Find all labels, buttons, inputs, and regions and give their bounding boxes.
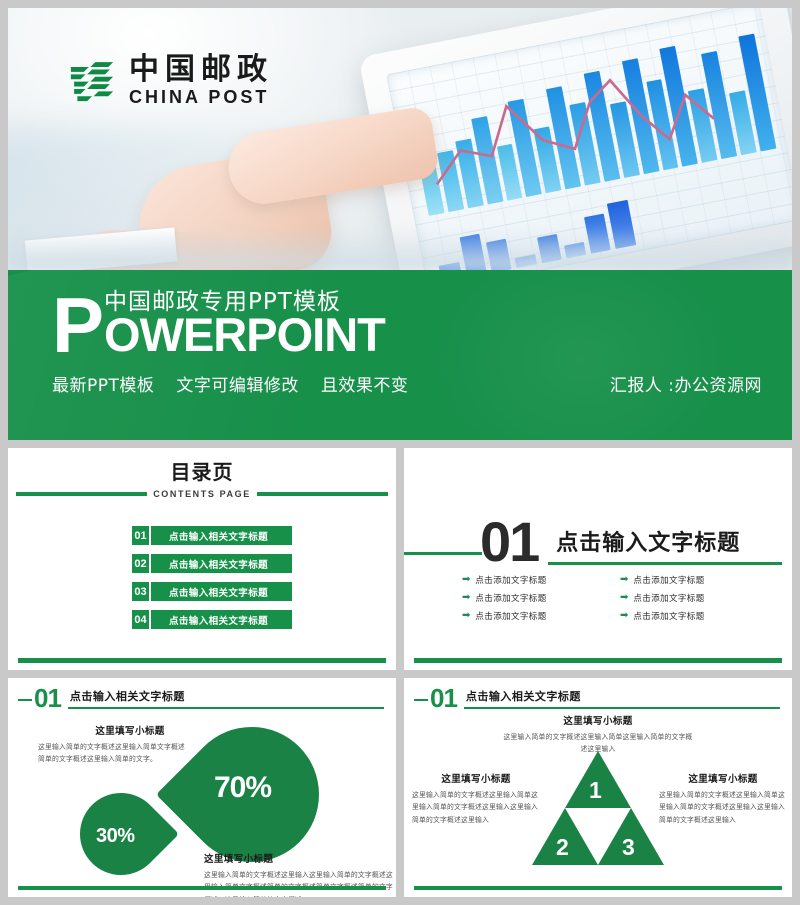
cover-subtitle: 最新PPT模板文字可编辑修改且效果不变 bbox=[52, 371, 430, 396]
header-dash bbox=[414, 699, 428, 701]
section-dash bbox=[404, 552, 482, 555]
teardrop-chart: 70% 30% 这里填写小标题 这里输入简单的文字概述这里输入简单文字概述简单的… bbox=[8, 709, 396, 885]
slide-percentage-chart[interactable]: 01 点击输入相关文字标题 70% 30% 这里填写小标题 这里输入简单的文字概… bbox=[8, 678, 396, 897]
section-bullet-list: ➡ 点击添加文字标题 ➡ 点击添加文字标题 ➡ 点击添加文字标题 ➡ 点击添加文… bbox=[462, 574, 760, 622]
cover-subtitle-part-3: 且效果不变 bbox=[321, 376, 409, 396]
slide-section-divider[interactable]: 01 点击输入文字标题 ➡ 点击添加文字标题 ➡ 点击添加文字标题 bbox=[404, 448, 792, 670]
list-item[interactable]: 02 点击输入相关文字标题 bbox=[132, 554, 396, 573]
list-item[interactable]: 04 点击输入相关文字标题 bbox=[132, 610, 396, 629]
block-heading: 这里填写小标题 bbox=[503, 713, 693, 727]
list-item[interactable]: ➡ 点击添加文字标题 bbox=[620, 610, 760, 622]
toc-label: 点击输入相关文字标题 bbox=[151, 610, 292, 629]
bullet-label: 点击添加文字标题 bbox=[633, 592, 704, 604]
bullet-label: 点击添加文字标题 bbox=[475, 592, 546, 604]
text-block-left: 这里填写小标题 这里输入简单的文字概述这里输入简单这里输入简单的文字概述这里输入… bbox=[412, 771, 540, 827]
slide-header: 01 点击输入相关文字标题 bbox=[404, 678, 792, 709]
block-body: 这里输入简单的文字概述这里输入这里输入简单的文字概述这里输入简单文字概述简单的文… bbox=[204, 869, 394, 898]
slide-footer-bar bbox=[414, 886, 782, 890]
cover-title-block: P 中国邮政专用PPT模板 OWERPOINT bbox=[8, 270, 792, 359]
text-block-bottom-right: 这里填写小标题 这里输入简单的文字概述这里输入这里输入简单的文字概述这里输入简单… bbox=[204, 851, 394, 898]
header-number: 01 bbox=[430, 688, 457, 708]
desk-edge-shadow bbox=[8, 228, 792, 270]
contents-subtitle-row: CONTENTS PAGE bbox=[16, 488, 388, 500]
section-title-wrap: 点击输入文字标题 bbox=[548, 525, 782, 565]
arrow-right-icon: ➡ bbox=[462, 611, 470, 621]
arrow-right-icon: ➡ bbox=[462, 593, 470, 603]
section-number: 01 bbox=[480, 520, 538, 565]
slide-cover[interactable]: 中国邮政 CHINA POST P 中国邮政专用PPT模板 OWERPOINT … bbox=[8, 8, 792, 440]
list-item[interactable]: ➡ 点击添加文字标题 bbox=[462, 592, 602, 604]
text-block-top: 这里填写小标题 这里输入简单的文字概述这里输入简单这里输入简单的文字概述这里输入 bbox=[503, 713, 693, 756]
triangle-number-1: 1 bbox=[589, 779, 602, 802]
list-item[interactable]: ➡ 点击添加文字标题 bbox=[620, 574, 760, 586]
list-item[interactable]: ➡ 点击添加文字标题 bbox=[462, 610, 602, 622]
cover-author: 汇报人 :办公资源网 bbox=[610, 371, 762, 396]
list-item[interactable]: 03 点击输入相关文字标题 bbox=[132, 582, 396, 601]
page-title: 点击输入相关文字标题 bbox=[464, 688, 780, 704]
contents-title: 目录页 bbox=[8, 456, 396, 485]
cover-subtitle-part-1: 最新PPT模板 bbox=[52, 376, 154, 396]
cover-title-stack: 中国邮政专用PPT模板 OWERPOINT bbox=[104, 290, 385, 357]
cover-subtitle-part-2: 文字可编辑修改 bbox=[176, 376, 299, 396]
logo-wordmark: 中国邮政 CHINA POST bbox=[129, 55, 273, 106]
contents-header: 目录页 CONTENTS PAGE bbox=[8, 448, 396, 504]
slide-header: 01 点击输入相关文字标题 bbox=[8, 678, 396, 709]
block-body: 这里输入简单的文字概述这里输入简单这里输入简单的文字概述这里输入这里输入简单的文… bbox=[659, 789, 787, 827]
text-block-right: 这里填写小标题 这里输入简单的文字概述这里输入简单这里输入简单的文字概述这里输入… bbox=[659, 771, 787, 827]
slide-triangle-diagram[interactable]: 01 点击输入相关文字标题 这里填写小标题 这里输入简单的文字概述这里输入简单这… bbox=[404, 678, 792, 897]
value-label-large: 70% bbox=[214, 771, 271, 805]
header-number: 01 bbox=[34, 688, 61, 708]
section-underline bbox=[548, 562, 782, 565]
section-title: 点击输入文字标题 bbox=[548, 525, 782, 557]
header-title-wrap: 点击输入相关文字标题 bbox=[464, 688, 780, 709]
toc-number: 02 bbox=[132, 554, 149, 573]
arrow-right-icon: ➡ bbox=[620, 611, 628, 621]
toc-number: 03 bbox=[132, 582, 149, 601]
cover-big-letter: P bbox=[52, 292, 102, 359]
slide-preview-sheet: 中国邮政 CHINA POST P 中国邮政专用PPT模板 OWERPOINT … bbox=[0, 0, 800, 905]
block-heading: 这里填写小标题 bbox=[38, 723, 188, 737]
bullet-label: 点击添加文字标题 bbox=[475, 610, 546, 622]
section-wrapper: 01 点击输入文字标题 ➡ 点击添加文字标题 ➡ 点击添加文字标题 bbox=[404, 448, 792, 670]
arrow-right-icon: ➡ bbox=[462, 575, 470, 585]
header-dash bbox=[18, 699, 32, 701]
contents-list: 01 点击输入相关文字标题 02 点击输入相关文字标题 03 点击输入相关文字标… bbox=[8, 526, 396, 629]
slide-contents[interactable]: 目录页 CONTENTS PAGE 01 点击输入相关文字标题 02 点击输入相… bbox=[8, 448, 396, 670]
slide-footer-bar bbox=[414, 658, 782, 663]
arrow-right-icon: ➡ bbox=[620, 593, 628, 603]
value-label-small: 30% bbox=[96, 825, 135, 848]
cover-title-row: P 中国邮政专用PPT模板 OWERPOINT bbox=[52, 288, 762, 359]
china-post-logo: 中国邮政 CHINA POST bbox=[66, 54, 273, 106]
page-title: 点击输入相关文字标题 bbox=[68, 688, 384, 704]
china-post-logo-icon bbox=[66, 54, 118, 106]
block-heading: 这里填写小标题 bbox=[412, 771, 540, 785]
contents-subtitle: CONTENTS PAGE bbox=[153, 489, 251, 499]
bullet-label: 点击添加文字标题 bbox=[475, 574, 546, 586]
slide-footer-bar bbox=[18, 658, 386, 663]
cover-photo: 中国邮政 CHINA POST bbox=[8, 8, 792, 270]
bullet-label: 点击添加文字标题 bbox=[633, 610, 704, 622]
block-body: 这里输入简单的文字概述这里输入简单文字概述简单的文字概述这里输入简单的文字。 bbox=[38, 741, 188, 766]
triangle-number-2: 2 bbox=[556, 836, 569, 859]
cover-green-band: P 中国邮政专用PPT模板 OWERPOINT 最新PPT模板文字可编辑修改且效… bbox=[8, 270, 792, 440]
logo-chinese-name: 中国邮政 bbox=[129, 55, 273, 85]
toc-label: 点击输入相关文字标题 bbox=[151, 554, 292, 573]
toc-number: 04 bbox=[132, 610, 149, 629]
block-body: 这里输入简单的文字概述这里输入简单这里输入简单的文字概述这里输入这里输入简单的文… bbox=[412, 789, 540, 827]
bullet-label: 点击添加文字标题 bbox=[633, 574, 704, 586]
cover-footer-row: 最新PPT模板文字可编辑修改且效果不变 汇报人 :办公资源网 bbox=[8, 371, 792, 396]
block-heading: 这里填写小标题 bbox=[204, 851, 394, 865]
index-finger bbox=[224, 105, 441, 209]
slide-footer-bar bbox=[18, 886, 386, 890]
triangle-diagram: 这里填写小标题 这里输入简单的文字概述这里输入简单这里输入简单的文字概述这里输入… bbox=[404, 709, 792, 885]
toc-number: 01 bbox=[132, 526, 149, 545]
toc-label: 点击输入相关文字标题 bbox=[151, 582, 292, 601]
triangle-number-3: 3 bbox=[622, 836, 635, 859]
triangle-shapes: 1 2 3 bbox=[532, 751, 664, 865]
cover-title-english: OWERPOINT bbox=[104, 313, 385, 356]
section-main: 01 点击输入文字标题 ➡ 点击添加文字标题 ➡ 点击添加文字标题 bbox=[404, 520, 792, 622]
header-title-wrap: 点击输入相关文字标题 bbox=[68, 688, 384, 709]
logo-english-name: CHINA POST bbox=[129, 88, 273, 106]
toc-label: 点击输入相关文字标题 bbox=[151, 526, 292, 545]
list-item[interactable]: ➡ 点击添加文字标题 bbox=[462, 574, 602, 586]
list-item[interactable]: ➡ 点击添加文字标题 bbox=[620, 592, 760, 604]
list-item[interactable]: 01 点击输入相关文字标题 bbox=[132, 526, 396, 545]
text-block-top-left: 这里填写小标题 这里输入简单的文字概述这里输入简单文字概述简单的文字概述这里输入… bbox=[38, 723, 188, 766]
section-row: 01 点击输入文字标题 bbox=[404, 520, 792, 565]
block-heading: 这里填写小标题 bbox=[659, 771, 787, 785]
rule-right bbox=[257, 492, 388, 496]
rule-left bbox=[16, 492, 147, 496]
arrow-right-icon: ➡ bbox=[620, 575, 628, 585]
